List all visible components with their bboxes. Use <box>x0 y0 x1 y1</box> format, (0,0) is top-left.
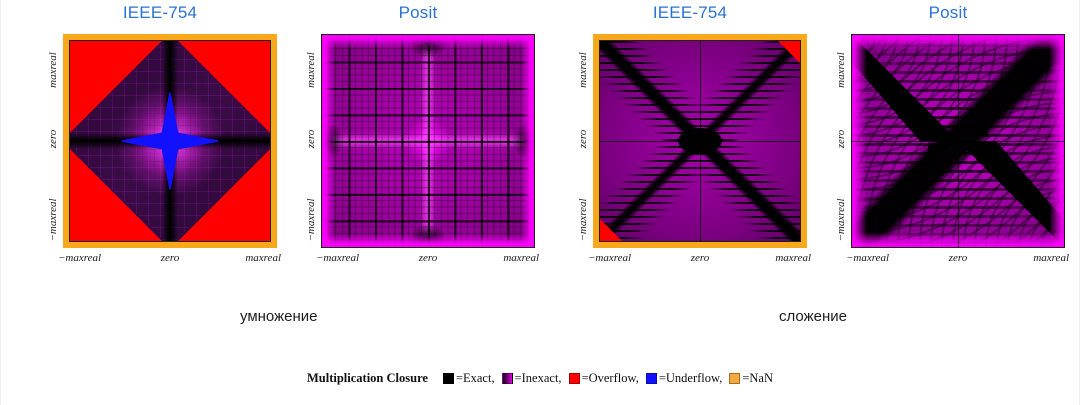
legend: Multiplication Closure =Exact, =Inexact,… <box>1 371 1079 386</box>
x-axis-labels: −maxreal zero maxreal <box>321 252 535 268</box>
x-tick-maxreal: maxreal <box>245 252 281 264</box>
y-tick-maxreal: maxreal <box>577 52 589 88</box>
axis-cross <box>852 35 1064 247</box>
x-axis-labels: −maxreal zero maxreal <box>593 252 807 268</box>
plot-area <box>63 34 277 248</box>
x-tick-zero: zero <box>161 252 180 264</box>
legend-label: =NaN <box>742 371 773 386</box>
panel-title: Posit <box>287 3 549 23</box>
nan-swatch-icon <box>729 373 740 384</box>
legend-label: =Overflow, <box>582 371 639 386</box>
y-axis-labels: maxreal zero −maxreal <box>301 34 321 248</box>
y-tick-zero: zero <box>47 130 59 149</box>
exact-swatch-icon <box>443 373 454 384</box>
y-tick-neg-maxreal: −maxreal <box>47 198 59 241</box>
legend-item-underflow: =Underflow, <box>646 371 723 386</box>
legend-item-exact: =Exact, <box>443 371 495 386</box>
y-tick-neg-maxreal: −maxreal <box>305 198 317 241</box>
y-axis-labels: maxreal zero −maxreal <box>43 34 63 248</box>
edge-highlight <box>322 35 534 247</box>
figure-root: IEEE-754 maxreal zero −maxreal −maxreal … <box>0 0 1080 405</box>
x-axis-labels: −maxreal zero maxreal <box>851 252 1065 268</box>
x-axis-labels: −maxreal zero maxreal <box>63 252 277 268</box>
plot-area <box>851 34 1065 248</box>
closure-map <box>322 35 534 247</box>
panel-ieee754-addition: IEEE-754 maxreal zero −maxreal −maxreal … <box>559 0 821 285</box>
y-tick-zero: zero <box>835 130 847 149</box>
x-tick-neg-maxreal: −maxreal <box>846 252 889 264</box>
y-tick-maxreal: maxreal <box>47 52 59 88</box>
closure-map <box>70 41 270 241</box>
legend-title: Multiplication Closure <box>307 371 428 386</box>
inexact-swatch-icon <box>502 373 513 384</box>
axis-cross <box>600 41 800 241</box>
x-tick-zero: zero <box>419 252 438 264</box>
panel-title: IEEE-754 <box>559 3 821 23</box>
x-tick-neg-maxreal: −maxreal <box>316 252 359 264</box>
legend-label: =Exact, <box>456 371 495 386</box>
panel-ieee754-multiplication: IEEE-754 maxreal zero −maxreal −maxreal … <box>29 0 291 285</box>
legend-item-nan: =NaN <box>729 371 773 386</box>
plot-area <box>321 34 535 248</box>
y-tick-zero: zero <box>305 130 317 149</box>
x-tick-maxreal: maxreal <box>775 252 811 264</box>
panel-title: Posit <box>817 3 1079 23</box>
underflow-swatch-icon <box>646 373 657 384</box>
x-tick-zero: zero <box>691 252 710 264</box>
y-tick-maxreal: maxreal <box>835 52 847 88</box>
legend-item-inexact: =Inexact, <box>502 371 562 386</box>
y-axis-labels: maxreal zero −maxreal <box>831 34 851 248</box>
plot-area <box>593 34 807 248</box>
legend-label: =Underflow, <box>659 371 723 386</box>
y-tick-neg-maxreal: −maxreal <box>577 198 589 241</box>
caption-addition: сложение <box>779 308 847 325</box>
panel-title: IEEE-754 <box>29 3 291 23</box>
closure-map <box>600 41 800 241</box>
legend-label: =Inexact, <box>515 371 562 386</box>
y-tick-neg-maxreal: −maxreal <box>835 198 847 241</box>
y-tick-zero: zero <box>577 130 589 149</box>
closure-map <box>852 35 1064 247</box>
underflow-axis-cross <box>70 41 270 241</box>
x-tick-zero: zero <box>949 252 968 264</box>
x-tick-neg-maxreal: −maxreal <box>58 252 101 264</box>
overflow-swatch-icon <box>569 373 580 384</box>
panel-posit-multiplication: Posit maxreal zero −maxreal −maxreal zer… <box>287 0 549 285</box>
x-tick-neg-maxreal: −maxreal <box>588 252 631 264</box>
caption-multiplication: умножение <box>240 308 317 325</box>
y-axis-labels: maxreal zero −maxreal <box>573 34 593 248</box>
y-tick-maxreal: maxreal <box>305 52 317 88</box>
x-tick-maxreal: maxreal <box>503 252 539 264</box>
x-tick-maxreal: maxreal <box>1033 252 1069 264</box>
legend-item-overflow: =Overflow, <box>569 371 639 386</box>
panel-posit-addition: Posit maxreal zero −maxreal −maxreal z <box>817 0 1079 285</box>
